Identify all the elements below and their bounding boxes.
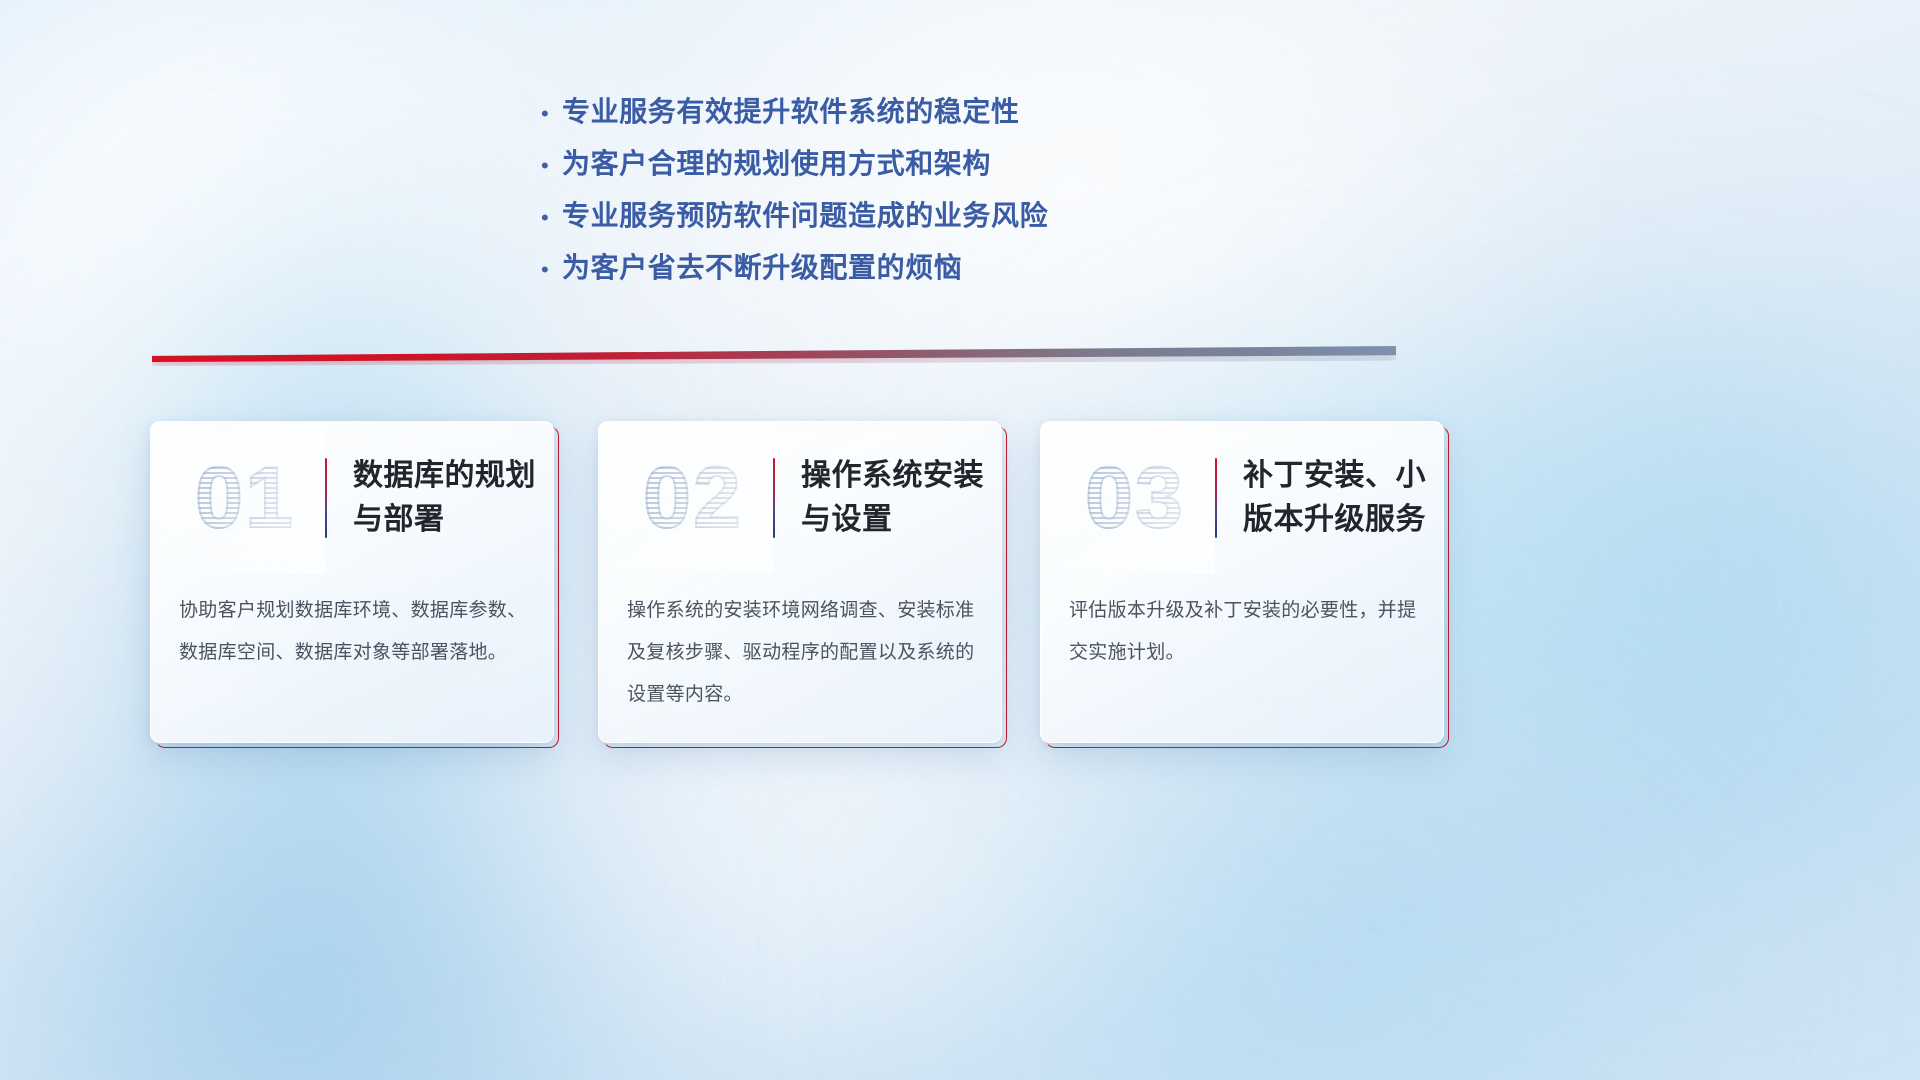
- bullet-marker-icon: •: [536, 207, 562, 229]
- service-card[interactable]: 03 补丁安装、小版本升级服务 评估版本升级及补丁安装的必要性，并提交实施计划。: [1040, 421, 1444, 743]
- card-title: 数据库的规划与部署: [327, 454, 553, 542]
- card-number-01: 01: [165, 422, 325, 574]
- bullet-marker-icon: •: [536, 155, 562, 177]
- bullet-text: 为客户省去不断升级配置的烦恼: [562, 242, 962, 294]
- benefits-bullet-list: • 专业服务有效提升软件系统的稳定性 • 为客户合理的规划使用方式和架构 • 专…: [536, 86, 1296, 294]
- card-title: 补丁安装、小版本升级服务: [1217, 454, 1443, 542]
- service-card-group: 01 数据库的规划与部署 协助客户规划数据库环境、数据库参数、数据库空间、数据库…: [150, 421, 1570, 747]
- slide-canvas: • 专业服务有效提升软件系统的稳定性 • 为客户合理的规划使用方式和架构 • 专…: [0, 0, 1920, 1080]
- card-header: 02 操作系统安装与设置: [599, 422, 1001, 574]
- bullet-item: • 为客户合理的规划使用方式和架构: [536, 138, 1296, 190]
- bullet-marker-icon: •: [536, 259, 562, 281]
- card-header: 03 补丁安装、小版本升级服务: [1041, 422, 1443, 574]
- bullet-text: 专业服务有效提升软件系统的稳定性: [562, 86, 1020, 138]
- bullet-item: • 专业服务有效提升软件系统的稳定性: [536, 86, 1296, 138]
- service-card[interactable]: 02 操作系统安装与设置 操作系统的安装环境网络调查、安装标准及复核步骤、驱动程…: [598, 421, 1002, 743]
- bullet-text: 为客户合理的规划使用方式和架构: [562, 138, 991, 190]
- bullet-item: • 专业服务预防软件问题造成的业务风险: [536, 190, 1296, 242]
- card-header: 01 数据库的规划与部署: [151, 422, 553, 574]
- card-title: 操作系统安装与设置: [775, 454, 1001, 542]
- service-card[interactable]: 01 数据库的规划与部署 协助客户规划数据库环境、数据库参数、数据库空间、数据库…: [150, 421, 554, 743]
- bullet-marker-icon: •: [536, 103, 562, 125]
- card-body-text: 协助客户规划数据库环境、数据库参数、数据库空间、数据库对象等部署落地。: [179, 590, 529, 674]
- card-body-text: 操作系统的安装环境网络调查、安装标准及复核步骤、驱动程序的配置以及系统的设置等内…: [627, 590, 977, 716]
- card-number-03: 03: [1055, 422, 1215, 574]
- bullet-text: 专业服务预防软件问题造成的业务风险: [562, 190, 1048, 242]
- card-body-text: 评估版本升级及补丁安装的必要性，并提交实施计划。: [1069, 590, 1419, 674]
- card-face: 03 补丁安装、小版本升级服务 评估版本升级及补丁安装的必要性，并提交实施计划。: [1040, 421, 1444, 743]
- card-number-02: 02: [613, 422, 773, 574]
- card-face: 02 操作系统安装与设置 操作系统的安装环境网络调查、安装标准及复核步骤、驱动程…: [598, 421, 1002, 743]
- tapered-accent-line: [152, 346, 1396, 362]
- card-face: 01 数据库的规划与部署 协助客户规划数据库环境、数据库参数、数据库空间、数据库…: [150, 421, 554, 743]
- bullet-item: • 为客户省去不断升级配置的烦恼: [536, 242, 1296, 294]
